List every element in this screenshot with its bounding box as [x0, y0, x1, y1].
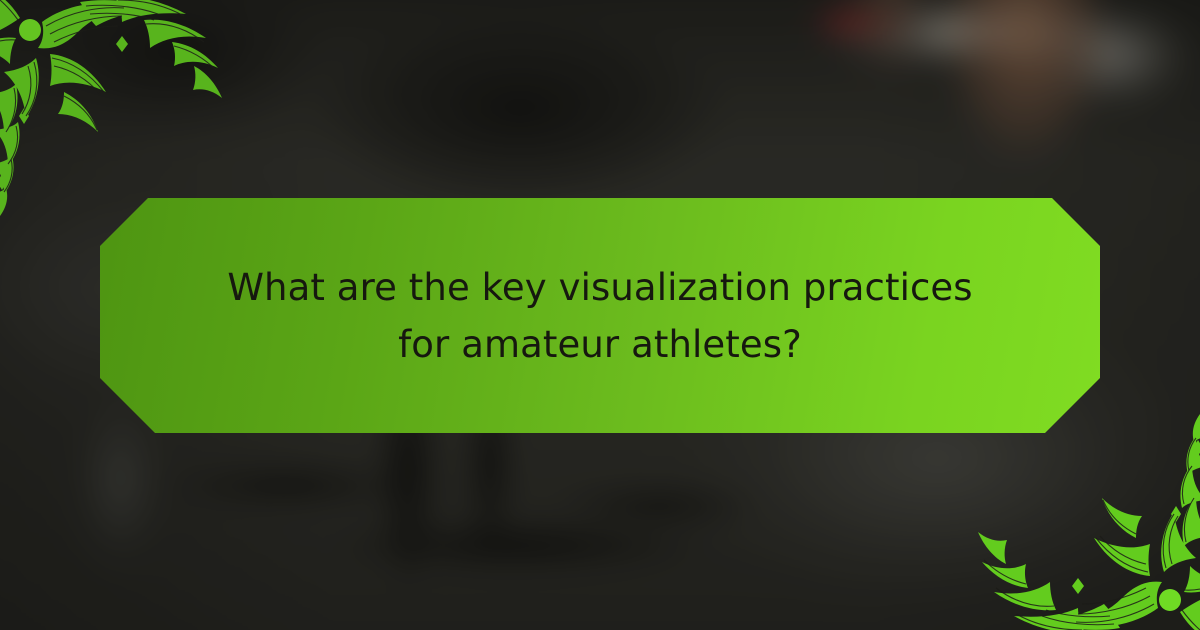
question-text: What are the key visualization practices… — [220, 259, 980, 373]
share-card-canvas: What are the key visualization practices… — [0, 0, 1200, 630]
question-banner: What are the key visualization practices… — [100, 198, 1100, 433]
